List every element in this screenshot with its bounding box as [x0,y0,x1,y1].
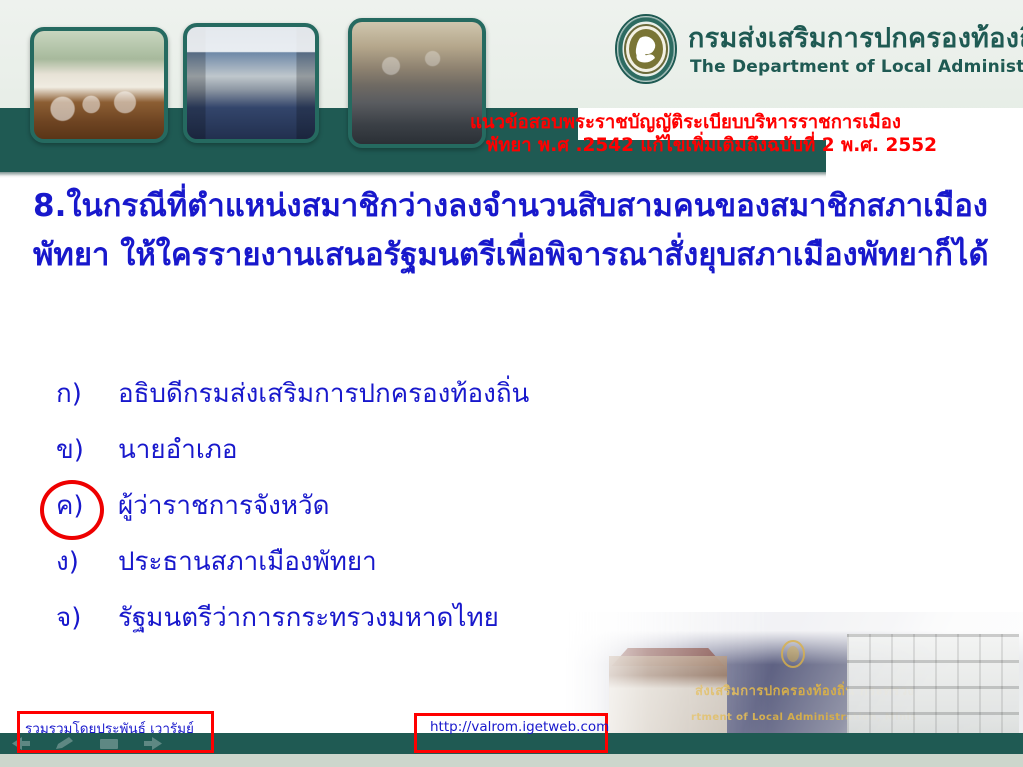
org-name-th: กรมส่งเสริมการปกครองท้องถิ่น [688,16,1023,59]
option-key-label-3: ง) [56,547,79,577]
option-text-4: รัฐมนตรีว่าการกระทรวงมหาดไทย [118,602,499,634]
option-row-1[interactable]: ข) นายอำเภอ [46,434,846,490]
org-name-en: The Department of Local Administration [690,57,1023,77]
option-key-2: ค) [46,490,118,522]
option-text-3: ประธานสภาเมืองพัทยา [118,546,377,578]
slide-root: กรมส่งเสริมการปกครองท้องถิ่น The Departm… [0,0,1023,767]
footer-credit-text: รวมรวมโดยประพันธ์ เวารัมย์ [25,717,203,739]
option-text-0: อธิบดีกรมส่งเสริมการปกครองท้องถิ่น [118,378,529,410]
footer-url-link[interactable]: http://valrom.igetweb.com [430,719,609,735]
footer-underline-strip [0,754,1023,767]
header-shadow-line [0,172,826,178]
photo-officials-meeting-image [34,31,164,139]
exam-title: แนวข้อสอบพระราชบัญญัติระเบียบบริหารราชกา… [470,111,1023,157]
department-logo: กรมส่งเสริมการปกครองท้องถิ่น The Departm… [614,12,1014,92]
option-key-4: จ) [46,602,118,634]
option-row-2[interactable]: ค) ผู้ว่าราชการจังหวัด [46,490,846,546]
option-key-0: ก) [46,378,118,410]
garuda-seal-icon [614,14,678,84]
option-text-2: ผู้ว่าราชการจังหวัด [118,490,330,522]
question-text: 8.ในกรณีที่ตำแหน่งสมาชิกว่างลงจำนวนสิบสา… [33,182,1001,280]
exam-title-line2: พัทยา พ.ศ .2542 แก้ไขเพิ่มเติมถึงฉบับที่… [470,134,1023,157]
photo-officials-meeting [30,27,168,143]
photo-conference-room [183,23,319,143]
option-key-3: ง) [46,546,118,578]
photo-assembly-hall [348,18,486,148]
photo-assembly-hall-image [352,22,482,144]
photo-conference-room-image [187,27,315,139]
option-row-3[interactable]: ง) ประธานสภาเมืองพัทยา [46,546,846,602]
option-key-label-1: ข) [56,435,84,465]
bottom-photo-seal-icon [780,640,806,668]
option-row-0[interactable]: ก) อธิบดีกรมส่งเสริมการปกครองท้องถิ่น [46,378,846,434]
option-key-label-2: ค) [56,491,84,521]
option-key-1: ข) [46,434,118,466]
option-key-label-0: ก) [56,379,82,409]
option-key-label-4: จ) [56,603,81,633]
exam-title-line1: แนวข้อสอบพระราชบัญญัติระเบียบบริหารราชกา… [470,112,901,133]
option-text-1: นายอำเภอ [118,434,237,466]
